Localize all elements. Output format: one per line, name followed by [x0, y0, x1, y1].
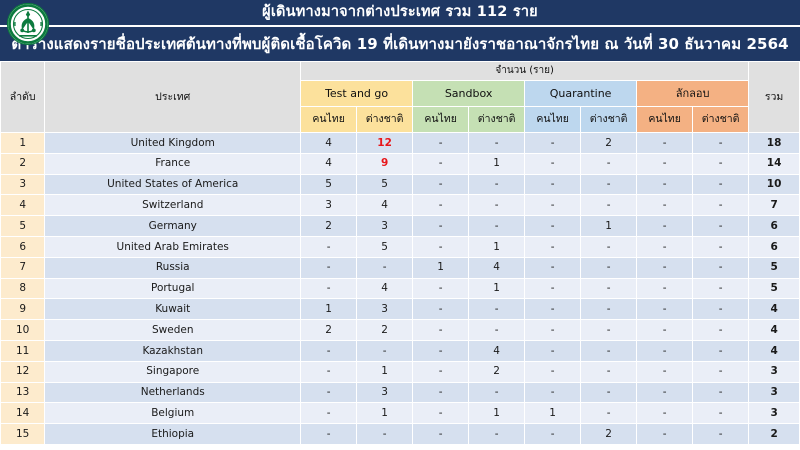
- cell-smuggled-foreign: -: [693, 299, 749, 320]
- cell-row-total: 4: [749, 320, 800, 341]
- cell-sandbox-thai: -: [413, 382, 469, 403]
- cell-smuggled-foreign: -: [693, 133, 749, 154]
- cell-test-and-go-foreign: 1: [357, 361, 413, 382]
- cell-quarantine-foreign: -: [581, 236, 637, 257]
- cell-smuggled-thai: -: [637, 236, 693, 257]
- cell-smuggled-thai: -: [637, 382, 693, 403]
- cell-quarantine-foreign: 1: [581, 216, 637, 237]
- table-row: 6United Arab Emirates-5-1----6: [1, 236, 800, 257]
- cell-sandbox-thai: -: [413, 299, 469, 320]
- cell-test-and-go-foreign: -: [357, 257, 413, 278]
- cell-sandbox-foreign: 1: [469, 278, 525, 299]
- cell-quarantine-foreign: -: [581, 299, 637, 320]
- cell-smuggled-foreign: -: [693, 195, 749, 216]
- cell-smuggled-foreign: -: [693, 340, 749, 361]
- cell-quarantine-thai: -: [525, 278, 581, 299]
- cell-country-name: United States of America: [45, 174, 301, 195]
- cell-row-total: 6: [749, 236, 800, 257]
- table-row: 15Ethiopia-----2--2: [1, 424, 800, 445]
- cell-test-and-go-foreign: 4: [357, 195, 413, 216]
- subcol-smuggled-thai: คนไทย: [637, 107, 693, 133]
- cell-rank: 6: [1, 236, 45, 257]
- cell-sandbox-thai: -: [413, 424, 469, 445]
- cell-smuggled-foreign: -: [693, 278, 749, 299]
- cell-sandbox-foreign: 2: [469, 361, 525, 382]
- cell-sandbox-thai: -: [413, 195, 469, 216]
- cell-sandbox-foreign: -: [469, 382, 525, 403]
- cell-test-and-go-foreign: 1: [357, 403, 413, 424]
- data-table-container: ลำดับ ประเทศ จำนวน (ราย) รวม Test and go…: [0, 61, 800, 450]
- cell-rank: 4: [1, 195, 45, 216]
- cell-smuggled-foreign: -: [693, 174, 749, 195]
- cell-test-and-go-thai: -: [301, 278, 357, 299]
- col-header-test-and-go: Test and go: [301, 81, 413, 107]
- cell-sandbox-thai: -: [413, 216, 469, 237]
- cell-sandbox-thai: -: [413, 133, 469, 154]
- cell-test-and-go-foreign: 12: [357, 133, 413, 154]
- col-header-sandbox: Sandbox: [413, 81, 525, 107]
- cell-sandbox-thai: -: [413, 361, 469, 382]
- subcol-test-and-go-thai: คนไทย: [301, 107, 357, 133]
- cell-quarantine-foreign: -: [581, 361, 637, 382]
- cell-sandbox-foreign: -: [469, 195, 525, 216]
- cell-country-name: France: [45, 153, 301, 174]
- table-row: 2France49-1----14: [1, 153, 800, 174]
- table-row: 7Russia--14----5: [1, 257, 800, 278]
- cell-sandbox-foreign: -: [469, 299, 525, 320]
- subcol-quarantine-thai: คนไทย: [525, 107, 581, 133]
- page-banner: ผู้เดินทางมาจากต่างประเทศ รวม 112 ราย ตา…: [0, 0, 800, 61]
- moph-emblem-icon: [6, 2, 50, 46]
- cell-smuggled-foreign: -: [693, 216, 749, 237]
- cell-rank: 1: [1, 133, 45, 154]
- cell-sandbox-thai: -: [413, 153, 469, 174]
- header-row-group: ลำดับ ประเทศ จำนวน (ราย) รวม: [1, 62, 800, 81]
- cell-smuggled-thai: -: [637, 153, 693, 174]
- cell-country-name: Belgium: [45, 403, 301, 424]
- cell-sandbox-foreign: -: [469, 216, 525, 237]
- cell-country-name: Singapore: [45, 361, 301, 382]
- cell-test-and-go-thai: -: [301, 257, 357, 278]
- cell-sandbox-foreign: -: [469, 133, 525, 154]
- cell-test-and-go-thai: 2: [301, 320, 357, 341]
- subcol-sandbox-thai: คนไทย: [413, 107, 469, 133]
- cell-row-total: 3: [749, 403, 800, 424]
- col-header-smuggled: ลักลอบ: [637, 81, 749, 107]
- cell-country-name: Kazakhstan: [45, 340, 301, 361]
- cell-smuggled-foreign: -: [693, 257, 749, 278]
- cell-smuggled-thai: -: [637, 299, 693, 320]
- cell-row-total: 5: [749, 257, 800, 278]
- cell-sandbox-foreign: 4: [469, 340, 525, 361]
- table-row: 11Kazakhstan---4----4: [1, 340, 800, 361]
- col-header-quarantine: Quarantine: [525, 81, 637, 107]
- cell-smuggled-thai: -: [637, 133, 693, 154]
- cell-rank: 9: [1, 299, 45, 320]
- cell-rank: 11: [1, 340, 45, 361]
- subcol-quarantine-foreign: ต่างชาติ: [581, 107, 637, 133]
- cell-test-and-go-foreign: -: [357, 424, 413, 445]
- table-row: 5Germany23---1--6: [1, 216, 800, 237]
- cell-quarantine-thai: 1: [525, 403, 581, 424]
- cell-smuggled-foreign: -: [693, 320, 749, 341]
- cell-test-and-go-thai: 3: [301, 195, 357, 216]
- col-header-rank: ลำดับ: [1, 62, 45, 133]
- cell-country-name: United Arab Emirates: [45, 236, 301, 257]
- cell-quarantine-foreign: -: [581, 340, 637, 361]
- cell-quarantine-thai: -: [525, 153, 581, 174]
- cell-smuggled-foreign: -: [693, 424, 749, 445]
- cell-smuggled-thai: -: [637, 320, 693, 341]
- cell-row-total: 3: [749, 382, 800, 403]
- cell-rank: 12: [1, 361, 45, 382]
- cell-test-and-go-foreign: 3: [357, 216, 413, 237]
- cell-test-and-go-thai: -: [301, 236, 357, 257]
- cell-quarantine-foreign: 2: [581, 424, 637, 445]
- cell-sandbox-foreign: 1: [469, 153, 525, 174]
- cell-test-and-go-thai: -: [301, 340, 357, 361]
- cell-test-and-go-thai: -: [301, 403, 357, 424]
- cell-country-name: Netherlands: [45, 382, 301, 403]
- banner-title-row: ผู้เดินทางมาจากต่างประเทศ รวม 112 ราย: [0, 0, 800, 25]
- cell-quarantine-thai: -: [525, 299, 581, 320]
- cell-smuggled-foreign: -: [693, 382, 749, 403]
- cell-smuggled-foreign: -: [693, 403, 749, 424]
- cell-sandbox-thai: 1: [413, 257, 469, 278]
- cell-test-and-go-foreign: 4: [357, 278, 413, 299]
- table-header: ลำดับ ประเทศ จำนวน (ราย) รวม Test and go…: [1, 62, 800, 133]
- cell-smuggled-foreign: -: [693, 236, 749, 257]
- cell-test-and-go-foreign: 3: [357, 299, 413, 320]
- cell-test-and-go-thai: 1: [301, 299, 357, 320]
- cell-test-and-go-thai: -: [301, 382, 357, 403]
- cell-quarantine-thai: -: [525, 133, 581, 154]
- cell-country-name: Switzerland: [45, 195, 301, 216]
- cell-test-and-go-foreign: 9: [357, 153, 413, 174]
- col-header-total: รวม: [749, 62, 800, 133]
- cell-test-and-go-foreign: -: [357, 340, 413, 361]
- page-subtitle: ตารางแสดงรายชื่อประเทศต้นทางที่พบผู้ติดเ…: [11, 37, 788, 52]
- cell-quarantine-thai: -: [525, 216, 581, 237]
- cell-test-and-go-foreign: 3: [357, 382, 413, 403]
- cell-smuggled-thai: -: [637, 278, 693, 299]
- cell-quarantine-foreign: 2: [581, 133, 637, 154]
- cell-test-and-go-thai: 2: [301, 216, 357, 237]
- table-row: 13Netherlands-3------3: [1, 382, 800, 403]
- cell-smuggled-thai: -: [637, 424, 693, 445]
- cell-test-and-go-thai: 4: [301, 133, 357, 154]
- cell-quarantine-foreign: -: [581, 320, 637, 341]
- cell-sandbox-thai: -: [413, 403, 469, 424]
- banner-subtitle-row: ตารางแสดงรายชื่อประเทศต้นทางที่พบผู้ติดเ…: [0, 27, 800, 61]
- cell-rank: 10: [1, 320, 45, 341]
- cell-country-name: Germany: [45, 216, 301, 237]
- cell-row-total: 3: [749, 361, 800, 382]
- subcol-smuggled-foreign: ต่างชาติ: [693, 107, 749, 133]
- table-row: 4Switzerland34------7: [1, 195, 800, 216]
- table-row: 3United States of America55------10: [1, 174, 800, 195]
- table-row: 9Kuwait13------4: [1, 299, 800, 320]
- cell-smuggled-foreign: -: [693, 153, 749, 174]
- cell-quarantine-foreign: -: [581, 257, 637, 278]
- table-row: 12Singapore-1-2----3: [1, 361, 800, 382]
- cell-sandbox-thai: -: [413, 174, 469, 195]
- cell-smuggled-foreign: -: [693, 361, 749, 382]
- cell-quarantine-thai: -: [525, 257, 581, 278]
- cell-test-and-go-thai: 4: [301, 153, 357, 174]
- cell-country-name: Ethiopia: [45, 424, 301, 445]
- cell-quarantine-thai: -: [525, 340, 581, 361]
- cell-row-total: 5: [749, 278, 800, 299]
- cell-row-total: 10: [749, 174, 800, 195]
- cell-sandbox-foreign: 1: [469, 403, 525, 424]
- cell-quarantine-foreign: -: [581, 195, 637, 216]
- cell-sandbox-foreign: -: [469, 174, 525, 195]
- col-header-count-group: จำนวน (ราย): [301, 62, 749, 81]
- table-row: 14Belgium-1-11---3: [1, 403, 800, 424]
- cell-row-total: 6: [749, 216, 800, 237]
- table-row: 8Portugal-4-1----5: [1, 278, 800, 299]
- page-title: ผู้เดินทางมาจากต่างประเทศ รวม 112 ราย: [262, 5, 538, 20]
- cell-sandbox-thai: -: [413, 320, 469, 341]
- cell-test-and-go-foreign: 5: [357, 174, 413, 195]
- cell-quarantine-thai: -: [525, 382, 581, 403]
- cell-rank: 2: [1, 153, 45, 174]
- table-body: 1United Kingdom412---2--182France49-1---…: [1, 133, 800, 445]
- cell-quarantine-foreign: -: [581, 174, 637, 195]
- cell-quarantine-thai: -: [525, 174, 581, 195]
- cell-quarantine-thai: -: [525, 320, 581, 341]
- cell-quarantine-thai: -: [525, 361, 581, 382]
- cell-rank: 7: [1, 257, 45, 278]
- cell-sandbox-foreign: 4: [469, 257, 525, 278]
- cell-quarantine-foreign: -: [581, 382, 637, 403]
- cell-rank: 14: [1, 403, 45, 424]
- cell-test-and-go-thai: 5: [301, 174, 357, 195]
- cell-smuggled-thai: -: [637, 361, 693, 382]
- cell-country-name: United Kingdom: [45, 133, 301, 154]
- cell-smuggled-thai: -: [637, 216, 693, 237]
- cell-row-total: 2: [749, 424, 800, 445]
- cell-smuggled-thai: -: [637, 340, 693, 361]
- cell-rank: 3: [1, 174, 45, 195]
- cell-country-name: Russia: [45, 257, 301, 278]
- cell-smuggled-thai: -: [637, 257, 693, 278]
- cell-sandbox-foreign: -: [469, 320, 525, 341]
- table-row: 1United Kingdom412---2--18: [1, 133, 800, 154]
- cell-test-and-go-thai: -: [301, 361, 357, 382]
- cell-smuggled-thai: -: [637, 403, 693, 424]
- col-header-country: ประเทศ: [45, 62, 301, 133]
- cell-rank: 15: [1, 424, 45, 445]
- cell-quarantine-foreign: -: [581, 153, 637, 174]
- cell-country-name: Portugal: [45, 278, 301, 299]
- country-covid-table: ลำดับ ประเทศ จำนวน (ราย) รวม Test and go…: [0, 61, 800, 445]
- cell-sandbox-thai: -: [413, 340, 469, 361]
- cell-sandbox-thai: -: [413, 236, 469, 257]
- cell-row-total: 18: [749, 133, 800, 154]
- cell-rank: 13: [1, 382, 45, 403]
- cell-sandbox-foreign: -: [469, 424, 525, 445]
- cell-country-name: Kuwait: [45, 299, 301, 320]
- subcol-sandbox-foreign: ต่างชาติ: [469, 107, 525, 133]
- cell-test-and-go-foreign: 2: [357, 320, 413, 341]
- cell-quarantine-foreign: -: [581, 278, 637, 299]
- cell-smuggled-thai: -: [637, 195, 693, 216]
- table-row: 10Sweden22------4: [1, 320, 800, 341]
- cell-smuggled-thai: -: [637, 174, 693, 195]
- cell-row-total: 7: [749, 195, 800, 216]
- cell-quarantine-foreign: -: [581, 403, 637, 424]
- cell-row-total: 4: [749, 340, 800, 361]
- cell-sandbox-foreign: 1: [469, 236, 525, 257]
- subcol-test-and-go-foreign: ต่างชาติ: [357, 107, 413, 133]
- cell-row-total: 4: [749, 299, 800, 320]
- cell-country-name: Sweden: [45, 320, 301, 341]
- cell-sandbox-thai: -: [413, 278, 469, 299]
- cell-rank: 5: [1, 216, 45, 237]
- cell-test-and-go-foreign: 5: [357, 236, 413, 257]
- cell-quarantine-thai: -: [525, 195, 581, 216]
- cell-quarantine-thai: -: [525, 424, 581, 445]
- cell-rank: 8: [1, 278, 45, 299]
- cell-row-total: 14: [749, 153, 800, 174]
- cell-test-and-go-thai: -: [301, 424, 357, 445]
- cell-quarantine-thai: -: [525, 236, 581, 257]
